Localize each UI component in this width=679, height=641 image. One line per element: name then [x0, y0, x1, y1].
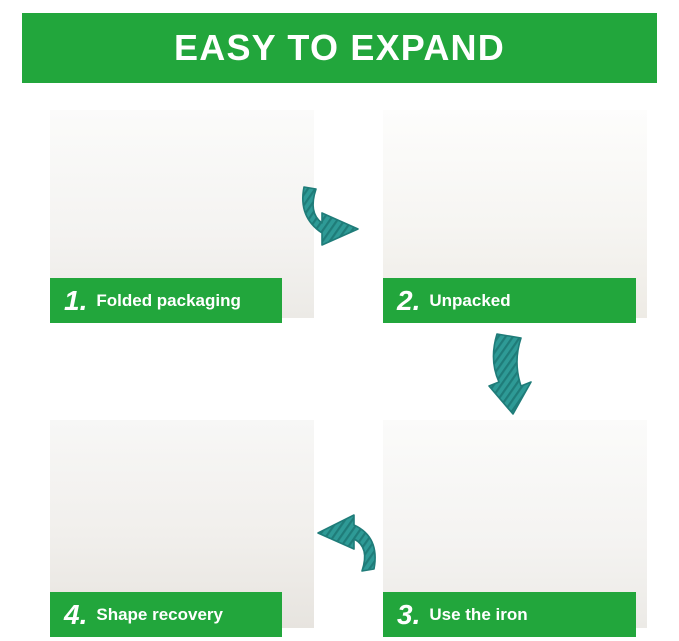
caption-unpacked: 2. Unpacked [383, 278, 636, 323]
arrow-step1-to-step2 [296, 183, 396, 253]
arrow-step3-to-step4 [290, 513, 382, 577]
arrow-step2-to-step3 [487, 330, 547, 418]
step-label: Unpacked [429, 292, 510, 309]
step-number: 2. [397, 287, 420, 315]
caption-shape-recovery: 4. Shape recovery [50, 592, 282, 637]
header-banner: EASY TO EXPAND [22, 13, 657, 83]
page-title: EASY TO EXPAND [174, 27, 505, 69]
step-number: 4. [64, 601, 87, 629]
step-label: Use the iron [429, 606, 527, 623]
step-label: Shape recovery [96, 606, 223, 623]
step-number: 3. [397, 601, 420, 629]
step-number: 1. [64, 287, 87, 315]
caption-folded-packaging: 1. Folded packaging [50, 278, 282, 323]
step-label: Folded packaging [96, 292, 241, 309]
infographic-page: EASY TO EXPAND [0, 0, 679, 641]
caption-use-the-iron: 3. Use the iron [383, 592, 636, 637]
